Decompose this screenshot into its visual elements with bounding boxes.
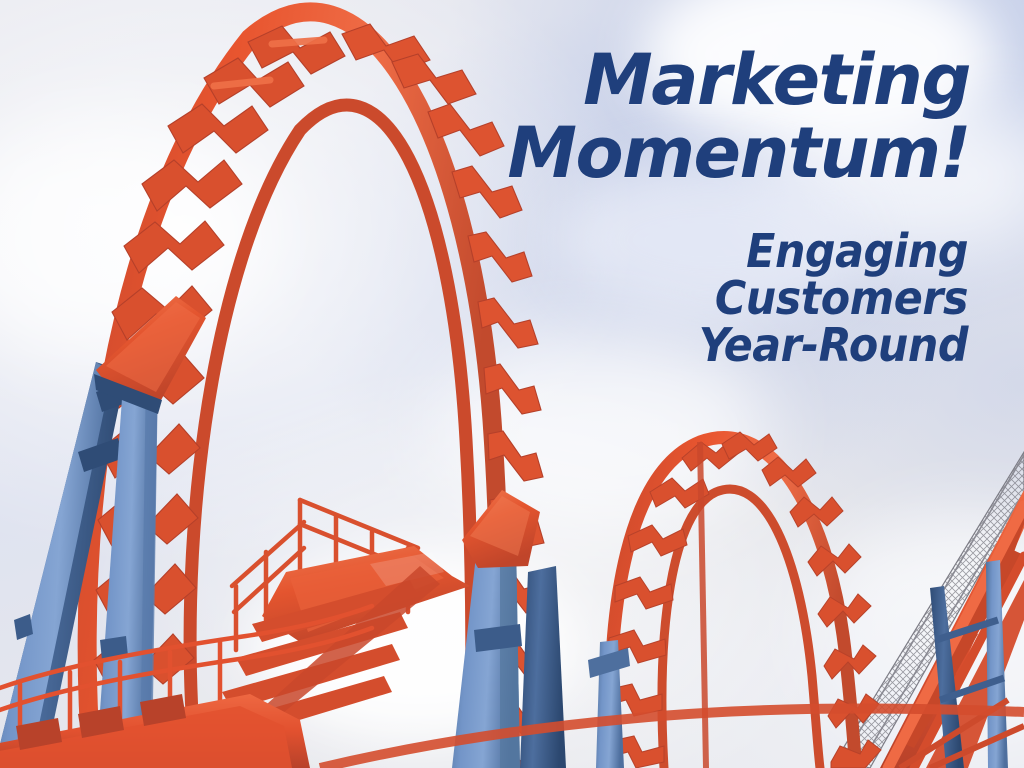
subtitle: Engaging Customers Year-Round	[488, 228, 968, 369]
subtitle-line-3: Year-Round	[522, 322, 968, 369]
subtitle-line-1: Engaging	[522, 228, 968, 275]
subtitle-line-2: Customers	[522, 275, 968, 322]
poster-canvas: Marketing Momentum! Engaging Customers Y…	[0, 0, 1024, 768]
headline: Marketing Momentum!	[410, 46, 970, 187]
headline-line-2: Momentum!	[410, 119, 970, 188]
headline-line-1: Marketing	[410, 46, 970, 115]
